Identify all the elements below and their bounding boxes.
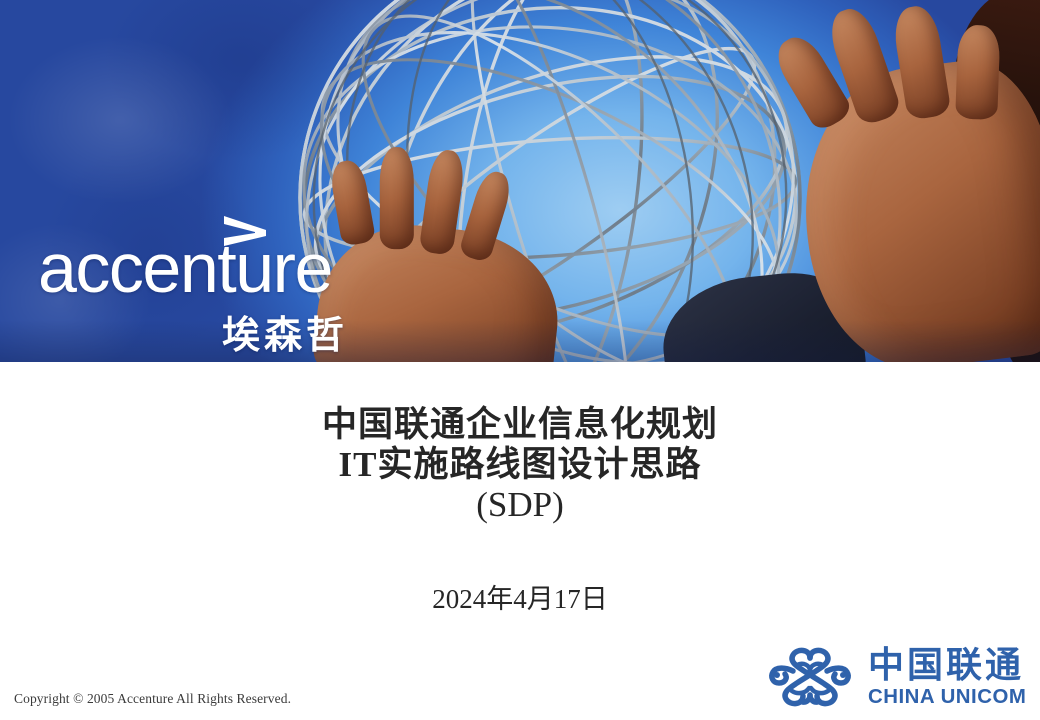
- greater-than-chevron-icon: [222, 214, 268, 248]
- copyright-notice: Copyright © 2005 Accenture All Rights Re…: [14, 691, 291, 707]
- unicom-chinese-name: 中国联通: [868, 647, 1024, 685]
- accenture-chinese-name: 埃森哲: [38, 304, 358, 359]
- unicom-english-name: CHINA UNICOM: [868, 686, 1027, 708]
- accenture-logo: accenture 埃森哲: [38, 236, 358, 359]
- title-line-3: (SDP): [0, 485, 1040, 525]
- unicom-wordmark: 中国联通 CHINA UNICOM: [868, 647, 1024, 708]
- accenture-wordmark: accenture: [38, 229, 332, 307]
- finger: [380, 147, 414, 249]
- title-line-1: 中国联通企业信息化规划: [0, 405, 1040, 445]
- finger: [955, 25, 1000, 120]
- presentation-date: 2024年4月17日: [0, 577, 1040, 616]
- title-line-2: IT实施路线图设计思路: [0, 445, 1040, 485]
- page-title: 中国联通企业信息化规划 IT实施路线图设计思路 (SDP): [0, 405, 1040, 525]
- title-slide: accenture 埃森哲 中国联通企业信息化规划 IT实施路线图设计思路 (S…: [0, 0, 1040, 720]
- china-unicom-logo: 中国联通 CHINA UNICOM: [762, 642, 1030, 712]
- unicom-endless-knot-icon: [762, 645, 858, 709]
- hero-image: accenture 埃森哲: [0, 0, 1040, 362]
